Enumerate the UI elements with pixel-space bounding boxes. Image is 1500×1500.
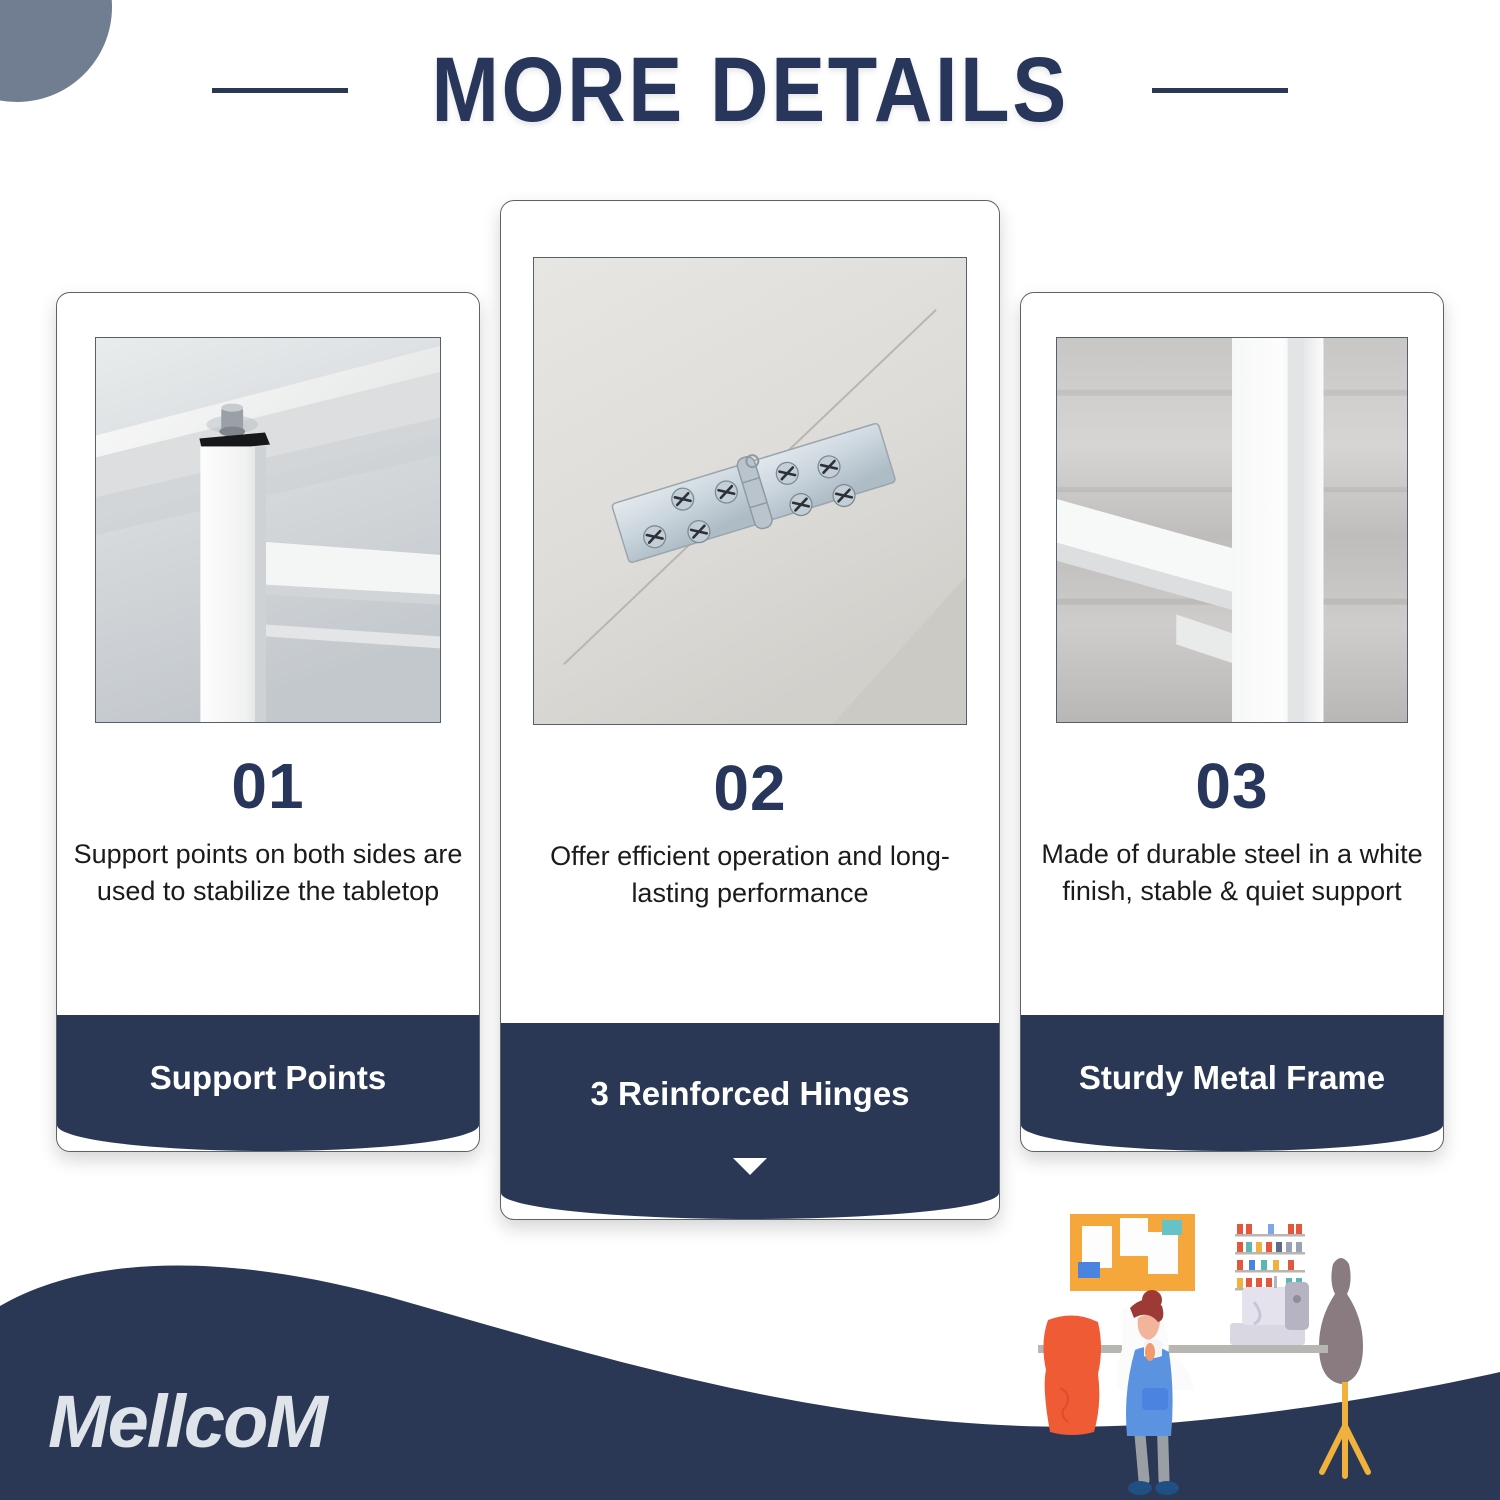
card-03-banner[interactable]: Sturdy Metal Frame [1021, 1015, 1443, 1151]
detail-card-02[interactable]: 02 Offer efficient operation and long-la… [500, 200, 1000, 1220]
hinge-photo-illustration [534, 258, 966, 724]
card-03-description: Made of durable steel in a white finish,… [1031, 836, 1433, 911]
brand-logo: MellcoM [48, 1379, 326, 1464]
page-header: MORE DETAILS [0, 30, 1500, 150]
card-02-banner-label: 3 Reinforced Hinges [590, 1075, 909, 1112]
card-03-body: 03 Made of durable steel in a white fini… [1021, 723, 1443, 1015]
support-point-photo-illustration [96, 338, 440, 722]
dress-form-mannequin-icon [1319, 1258, 1368, 1476]
title-rule-right [1152, 88, 1288, 93]
title-rule-left [212, 88, 348, 93]
card-01-body: 01 Support points on both sides are used… [57, 723, 479, 1015]
card-02-banner[interactable]: 3 Reinforced Hinges [501, 1023, 999, 1219]
card-02-number: 02 [511, 755, 989, 822]
metal-frame-photo-illustration [1057, 338, 1407, 722]
seamstress-figure [1118, 1290, 1195, 1495]
thread-spools-icon [1235, 1224, 1305, 1291]
infographic-page: MORE DETAILS [0, 0, 1500, 1500]
card-02-description: Offer efficient operation and long-lasti… [511, 838, 989, 913]
card-03-photo [1056, 337, 1408, 723]
chevron-down-icon[interactable] [733, 1158, 767, 1175]
card-01-photo [95, 337, 441, 723]
detail-card-01[interactable]: 01 Support points on both sides are used… [56, 292, 480, 1152]
sewing-studio-illustration [1030, 1200, 1500, 1500]
card-03-banner-label: Sturdy Metal Frame [1079, 1059, 1385, 1096]
page-title: MORE DETAILS [431, 44, 1068, 136]
card-02-photo [533, 257, 967, 725]
card-01-banner[interactable]: Support Points [57, 1015, 479, 1151]
card-02-body: 02 Offer efficient operation and long-la… [501, 725, 999, 1023]
card-01-banner-label: Support Points [150, 1059, 386, 1096]
card-01-number: 01 [67, 753, 469, 820]
card-03-number: 03 [1031, 753, 1433, 820]
detail-card-03[interactable]: 03 Made of durable steel in a white fini… [1020, 292, 1444, 1152]
card-01-description: Support points on both sides are used to… [67, 836, 469, 911]
red-fabric-icon [1043, 1315, 1101, 1435]
